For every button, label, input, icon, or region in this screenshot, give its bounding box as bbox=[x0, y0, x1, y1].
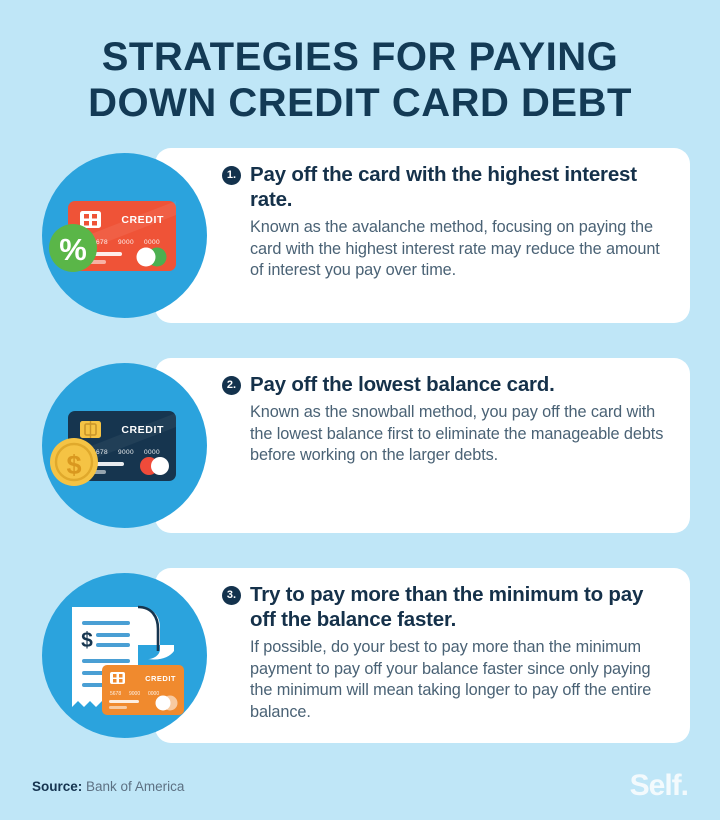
page-title-line-2: DOWN CREDIT CARD DEBT bbox=[34, 80, 686, 126]
illustration-circle-3: $ CREDIT 5678 9000 0000 bbox=[42, 573, 207, 738]
strategy-number-badge-2: 2. bbox=[222, 376, 241, 395]
receipt-with-credit-card-icon: $ CREDIT 5678 9000 0000 bbox=[42, 573, 207, 738]
svg-text:9000: 9000 bbox=[118, 449, 134, 456]
strategy-heading-row-1: 1. Pay off the card with the highest int… bbox=[222, 162, 672, 212]
svg-text:CREDIT: CREDIT bbox=[121, 424, 164, 436]
strategy-content-2: 2. Pay off the lowest balance card. Know… bbox=[222, 372, 672, 467]
svg-text:0000: 0000 bbox=[144, 449, 160, 456]
strategy-body-2: Known as the snowball method, you pay of… bbox=[250, 402, 672, 467]
self-brand-logo: Self. bbox=[630, 769, 688, 803]
strategy-number-badge-3: 3. bbox=[222, 586, 241, 605]
strategy-content-3: 3. Try to pay more than the minimum to p… bbox=[222, 582, 672, 723]
svg-text:CREDIT: CREDIT bbox=[145, 674, 176, 683]
strategy-item-2: CREDIT 5678 9000 0000 $ 2. Pay off the l bbox=[0, 358, 720, 533]
svg-text:$: $ bbox=[81, 629, 93, 652]
navy-credit-card-icon: CREDIT 5678 9000 0000 $ bbox=[42, 363, 207, 528]
strategy-number-badge-1: 1. bbox=[222, 166, 241, 185]
strategy-heading-3: Try to pay more than the minimum to pay … bbox=[250, 582, 672, 632]
source-value: Bank of America bbox=[86, 779, 184, 794]
svg-text:0000: 0000 bbox=[144, 239, 160, 246]
strategy-list: CREDIT 5678 9000 0000 % 1. bbox=[0, 148, 720, 743]
source-label: Source: bbox=[32, 779, 82, 794]
illustration-circle-2: CREDIT 5678 9000 0000 $ bbox=[42, 363, 207, 528]
svg-text:5678: 5678 bbox=[110, 691, 121, 697]
page-title-line-1: STRATEGIES FOR PAYING bbox=[34, 34, 686, 80]
strategy-body-1: Known as the avalanche method, focusing … bbox=[250, 217, 672, 282]
strategy-heading-1: Pay off the card with the highest intere… bbox=[250, 162, 672, 212]
strategy-body-3: If possible, do your best to pay more th… bbox=[250, 637, 672, 723]
footer: Source: Bank of America Self. bbox=[0, 752, 720, 820]
page-title: STRATEGIES FOR PAYING DOWN CREDIT CARD D… bbox=[0, 0, 720, 126]
strategy-heading-row-3: 3. Try to pay more than the minimum to p… bbox=[222, 582, 672, 632]
svg-text:CREDIT: CREDIT bbox=[121, 214, 164, 226]
strategy-heading-row-2: 2. Pay off the lowest balance card. bbox=[222, 372, 672, 397]
strategy-content-1: 1. Pay off the card with the highest int… bbox=[222, 162, 672, 282]
source-attribution: Source: Bank of America bbox=[32, 779, 184, 794]
strategy-item-1: CREDIT 5678 9000 0000 % 1. bbox=[0, 148, 720, 323]
svg-text:0000: 0000 bbox=[148, 691, 159, 697]
svg-text:$: $ bbox=[66, 450, 81, 480]
red-credit-card-icon: CREDIT 5678 9000 0000 % bbox=[42, 153, 207, 318]
svg-text:9000: 9000 bbox=[118, 239, 134, 246]
illustration-circle-1: CREDIT 5678 9000 0000 % bbox=[42, 153, 207, 318]
svg-text:%: % bbox=[59, 232, 87, 267]
svg-text:9000: 9000 bbox=[129, 691, 140, 697]
strategy-item-3: $ CREDIT 5678 9000 0000 bbox=[0, 568, 720, 743]
strategy-heading-2: Pay off the lowest balance card. bbox=[250, 372, 555, 397]
